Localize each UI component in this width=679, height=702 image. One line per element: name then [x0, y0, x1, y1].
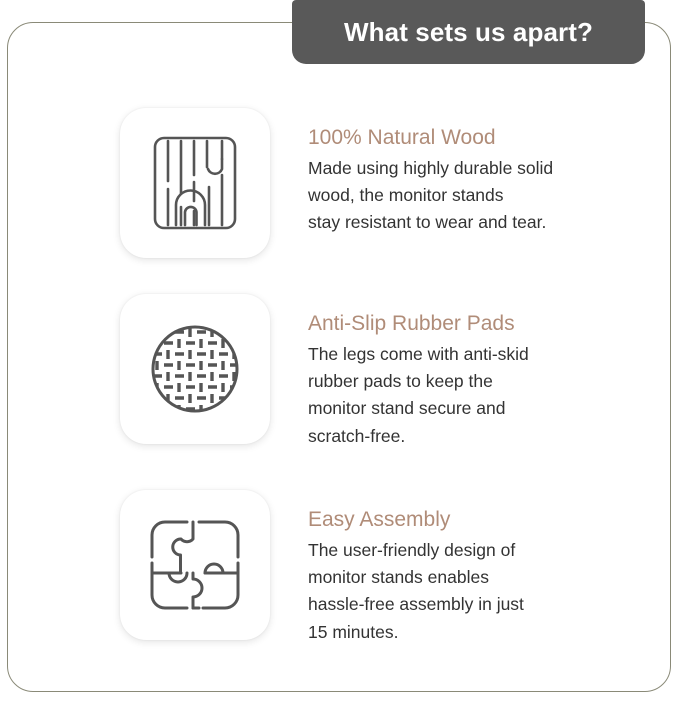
feature-heading: Easy Assembly: [308, 508, 638, 532]
feature-item-easy-assembly: Easy Assembly The user-friendly design o…: [0, 490, 679, 646]
feature-text-easy-assembly: Easy Assembly The user-friendly design o…: [308, 490, 638, 646]
header-banner: What sets us apart?: [292, 0, 645, 64]
wood-grain-icon: [152, 135, 238, 231]
feature-body: The legs come with anti-skid rubber pads…: [308, 341, 638, 450]
feature-heading: 100% Natural Wood: [308, 126, 638, 150]
rubber-pad-texture-icon: [147, 321, 243, 417]
icon-tile-natural-wood: [120, 108, 270, 258]
feature-body: Made using highly durable solid wood, th…: [308, 155, 638, 236]
feature-text-natural-wood: 100% Natural Wood Made using highly dura…: [308, 108, 638, 237]
feature-item-natural-wood: 100% Natural Wood Made using highly dura…: [0, 108, 679, 258]
puzzle-pieces-icon: [147, 517, 243, 613]
page-title: What sets us apart?: [344, 17, 593, 48]
feature-heading: Anti-Slip Rubber Pads: [308, 312, 638, 336]
feature-text-rubber-pads: Anti-Slip Rubber Pads The legs come with…: [308, 294, 638, 450]
icon-tile-easy-assembly: [120, 490, 270, 640]
feature-item-rubber-pads: Anti-Slip Rubber Pads The legs come with…: [0, 294, 679, 450]
icon-tile-rubber-pads: [120, 294, 270, 444]
feature-body: The user-friendly design of monitor stan…: [308, 537, 638, 646]
